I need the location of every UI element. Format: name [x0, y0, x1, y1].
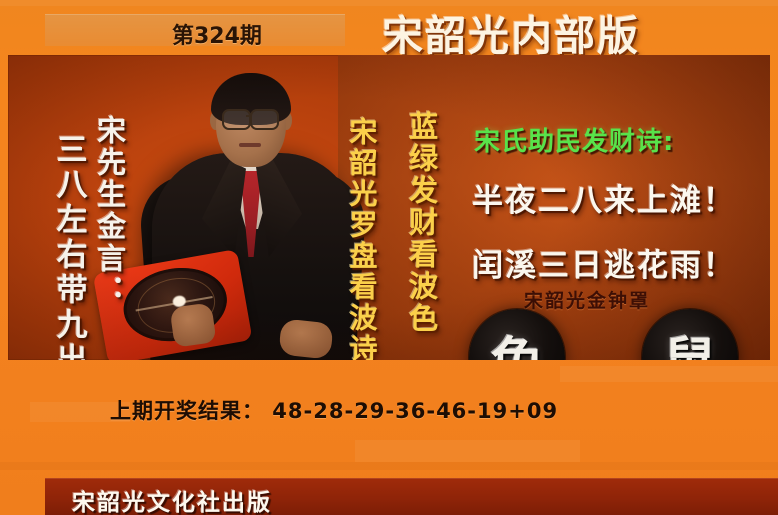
- publisher-text: 宋韶光文化社出版: [72, 483, 272, 515]
- bg-band-footer-shadow: [0, 462, 778, 470]
- compass-poem-title: 宋韶光罗盘看波诗：: [347, 117, 376, 360]
- wealth-poem-line-1: 半夜二八来上滩！: [472, 175, 736, 220]
- compass-poem-body: 蓝绿发财看波色: [406, 111, 436, 335]
- portrait-hand-left: [169, 302, 216, 347]
- bg-band-right: [560, 366, 778, 382]
- zodiac-label-2: 鼠: [642, 309, 738, 360]
- master-saying-title: 宋先生金言：: [94, 115, 124, 307]
- bg-band-mid: [355, 440, 580, 462]
- main-image-panel: 宋先生金言： 三八左右带九出！ 宋韶光罗盘看波诗： 蓝绿发财看波色 宋氏助民发财…: [8, 55, 770, 360]
- poster-root: 第324期 宋韶光内部版: [0, 0, 778, 515]
- header: 第324期 宋韶光内部版: [0, 0, 778, 55]
- zodiac-disc-rat: 鼠: [642, 309, 738, 360]
- portrait-mouth: [239, 143, 261, 147]
- zodiac-label-1: 兔: [469, 309, 565, 360]
- wealth-poem-title: 宋氏助民发财诗:: [474, 121, 674, 158]
- portrait-eyeglass-bridge: [246, 115, 252, 117]
- portrait-photo: [138, 55, 368, 360]
- portrait-eyeglass-right: [250, 109, 279, 130]
- page-title: 宋韶光内部版: [382, 2, 640, 62]
- portrait-hand-right: [278, 318, 333, 359]
- portrait-eyeglass-left: [222, 109, 251, 130]
- zodiac-disc-rabbit: 兔: [469, 309, 565, 360]
- previous-draw-result: 上期开奖结果： 48-28-29-36-46-19+09: [110, 395, 558, 425]
- issue-number: 第324期: [172, 18, 262, 50]
- master-saying-body: 三八左右带九出！: [52, 133, 84, 360]
- wealth-poem-line-2: 闰溪三日逃花雨！: [472, 240, 736, 285]
